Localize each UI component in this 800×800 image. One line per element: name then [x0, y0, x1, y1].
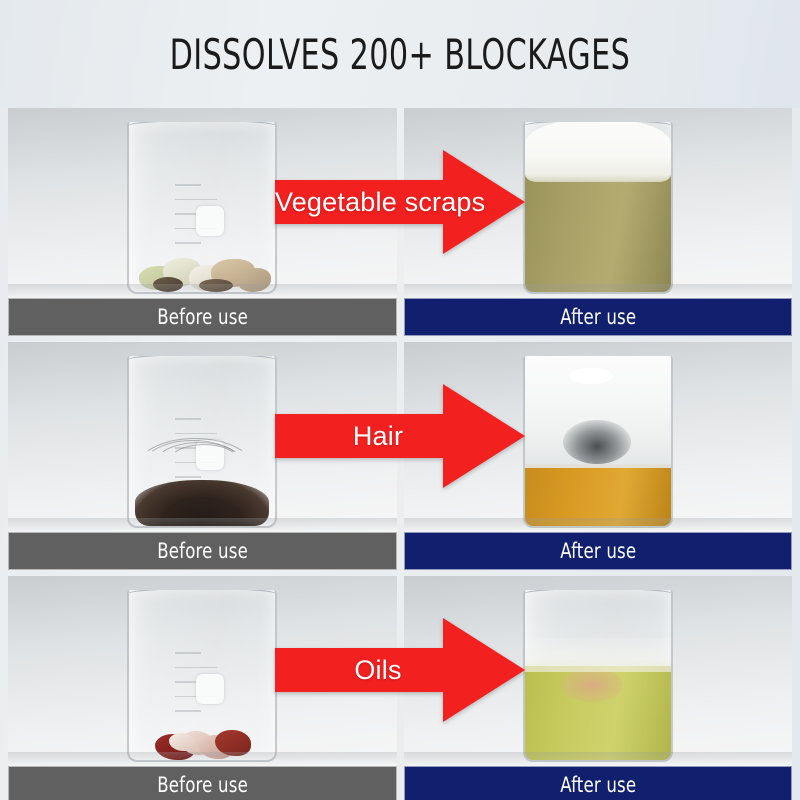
beaker-stage: [404, 108, 793, 298]
caption-text: After use: [560, 773, 636, 797]
beaker-spout-icon: [660, 122, 673, 131]
vegetable-scraps-contents: [137, 252, 267, 292]
caption-text: Before use: [157, 539, 248, 563]
beaker-rim: [127, 590, 277, 595]
beaker-before-vegetable-scraps: [127, 122, 277, 294]
dissolved-liquid: [525, 464, 671, 526]
beaker-stage: [8, 576, 397, 766]
before-panel-vegetable-scraps: Before use: [8, 108, 397, 336]
beaker-after-hair: [523, 356, 673, 528]
caption-text: Before use: [157, 773, 248, 797]
beaker-spout-icon: [660, 590, 673, 599]
caption-after-use: After use: [404, 766, 793, 800]
before-panel-hair: Before use: [8, 342, 397, 570]
foam-layer: [525, 122, 671, 182]
before-panel-oils: Before use: [8, 576, 397, 800]
suspended-particles: [563, 420, 631, 464]
foam-highlight: [569, 368, 613, 384]
beaker-before-hair: [127, 356, 277, 528]
after-panel-hair: After use: [404, 342, 793, 570]
beaker-spout-icon: [265, 122, 278, 131]
beaker-rim: [127, 122, 277, 127]
beaker-stage: [8, 108, 397, 298]
beaker-after-vegetable-scraps: [523, 122, 673, 294]
beaker-after-oils: [523, 590, 673, 762]
surface-haze: [525, 638, 671, 672]
after-panel-oils: After use: [404, 576, 793, 800]
beaker-sticker: [196, 674, 224, 704]
beaker-spout-icon: [265, 590, 278, 599]
fat-and-meat-contents: [155, 724, 249, 760]
after-panel-vegetable-scraps: After use: [404, 108, 793, 336]
hair-clump-contents: [135, 480, 269, 526]
beaker-rim: [523, 590, 673, 595]
caption-after-use: After use: [404, 532, 793, 570]
pink-residue: [561, 668, 623, 702]
beaker-stage: [404, 342, 793, 532]
beaker-stage: [8, 342, 397, 532]
beaker-stage: [404, 576, 793, 766]
comparison-row: Before use Vegetable scraps After use: [8, 108, 792, 336]
caption-after-use: After use: [404, 298, 793, 336]
beaker-sticker: [196, 206, 224, 236]
caption-before-use: Before use: [8, 532, 397, 570]
caption-before-use: Before use: [8, 298, 397, 336]
dissolved-liquid: [525, 174, 671, 292]
caption-before-use: Before use: [8, 766, 397, 800]
caption-text: After use: [560, 305, 636, 329]
caption-text: Before use: [157, 305, 248, 329]
beaker-before-oils: [127, 590, 277, 762]
comparison-row: Before use Oils After use: [8, 576, 792, 800]
page-title: DISSOLVES 200+ BLOCKAGES: [170, 30, 631, 79]
header-banner: DISSOLVES 200+ BLOCKAGES: [0, 0, 800, 108]
beaker-spout-icon: [265, 356, 278, 365]
beaker-rim: [127, 356, 277, 361]
comparison-row: Before use Hair Aft: [8, 342, 792, 570]
comparison-grid: Before use Vegetable scraps After use: [0, 108, 800, 800]
caption-text: After use: [560, 539, 636, 563]
